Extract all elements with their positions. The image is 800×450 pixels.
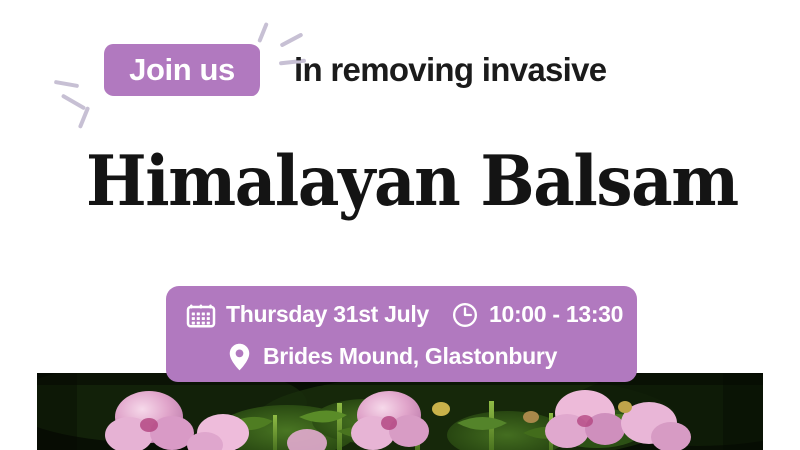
- event-location: Brides Mound, Glastonbury: [263, 345, 557, 370]
- page-title: Himalayan Balsam: [86, 143, 737, 221]
- kicker-text: in removing invasive: [294, 44, 606, 96]
- join-us-label: Join us: [129, 54, 235, 87]
- event-date: Thursday 31st July: [226, 303, 429, 328]
- clock-icon: [451, 301, 479, 329]
- sparkle-icon: [54, 80, 79, 88]
- sparkle-icon: [78, 106, 90, 129]
- join-us-badge-group: Join us: [104, 44, 260, 96]
- event-poster: Join us in removing invasive Himalayan B…: [0, 0, 800, 450]
- sparkle-icon: [61, 94, 86, 111]
- kicker-row: Join us in removing invasive: [0, 44, 800, 96]
- join-us-badge: Join us: [104, 44, 260, 96]
- date-time-row: Thursday 31st July 10:00 - 13:30: [186, 294, 623, 336]
- calendar-icon: [186, 300, 216, 330]
- event-time: 10:00 - 13:30: [489, 303, 623, 328]
- map-pin-icon: [226, 342, 253, 372]
- location-row: Brides Mound, Glastonbury: [226, 336, 557, 378]
- event-details-panel: Thursday 31st July 10:00 - 13:30 Brides …: [166, 286, 637, 382]
- balsam-photo: [37, 373, 763, 450]
- sparkle-icon: [257, 22, 269, 43]
